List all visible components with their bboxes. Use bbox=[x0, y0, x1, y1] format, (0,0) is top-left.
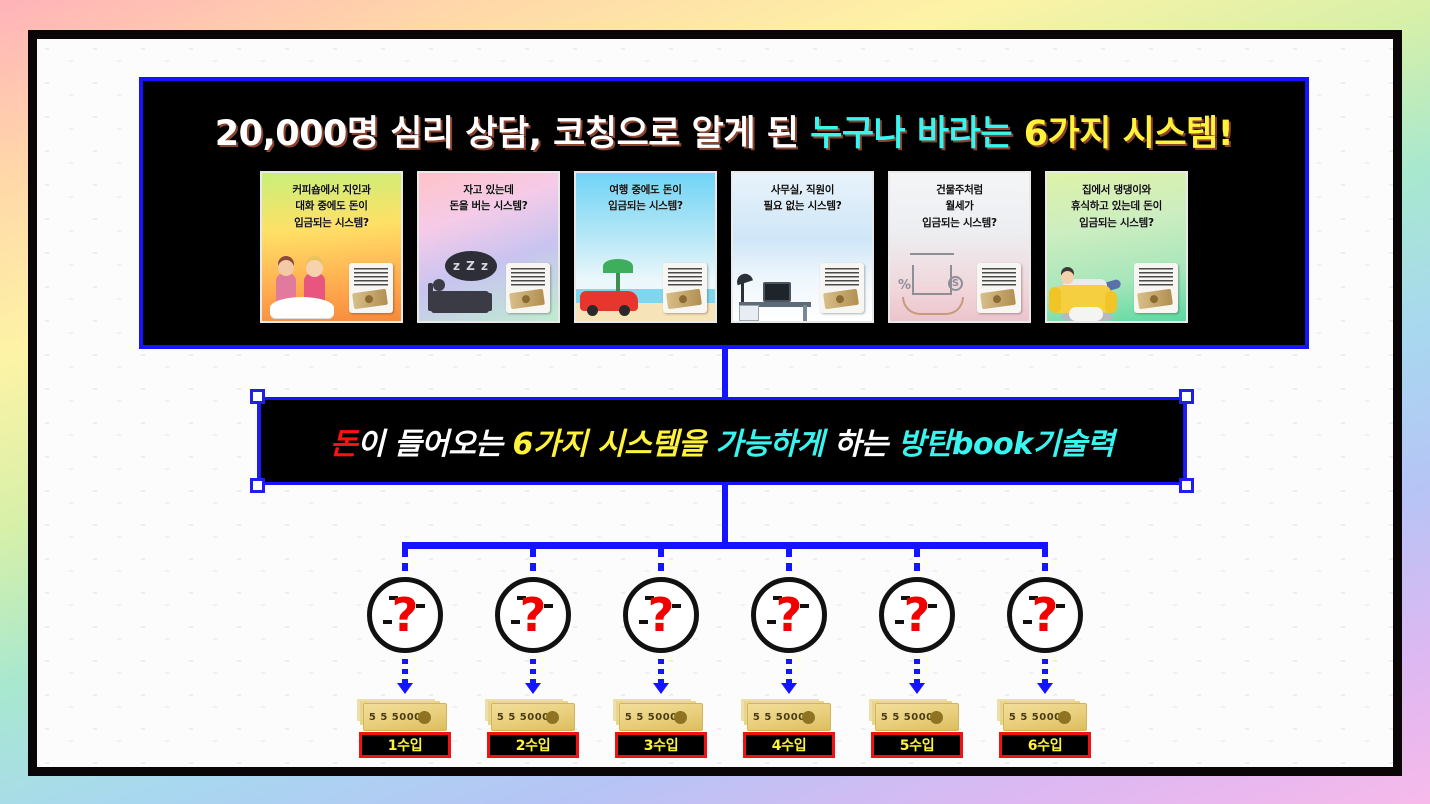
card-text: 자고 있는데 돈을 버는 시스템? bbox=[419, 173, 558, 215]
arrow-head-icon bbox=[397, 683, 413, 694]
card-line: 입금되는 시스템? bbox=[895, 215, 1024, 231]
card-landlord[interactable]: 건물주처럼 월세가 입금되는 시스템? %S bbox=[888, 171, 1031, 323]
cash-document-icon bbox=[820, 263, 864, 313]
card-line: 필요 없는 시스템? bbox=[738, 198, 867, 214]
slide-canvas: 20,000명 심리 상담, 코칭으로 알게 된 누구나 바라는 6가지 시스템… bbox=[37, 39, 1393, 767]
arrow-shaft bbox=[1042, 659, 1048, 685]
title-part-3: 6가지 시스템! bbox=[1024, 114, 1234, 154]
arrow-head-icon bbox=[909, 683, 925, 694]
mid-part-3: 6가지 시스템을 bbox=[512, 427, 715, 462]
card-line: 휴식하고 있는데 돈이 bbox=[1052, 198, 1181, 214]
question-mark-icon: ? bbox=[500, 592, 566, 638]
arrow-shaft bbox=[786, 659, 792, 685]
arrow-shaft bbox=[402, 659, 408, 685]
drop-line bbox=[786, 549, 792, 577]
income-item[interactable]: 5 5 50000 1수입 bbox=[357, 703, 453, 758]
banknote-icon: 5 5 50000 bbox=[875, 703, 959, 731]
card-line: 월세가 bbox=[895, 198, 1024, 214]
cash-document-icon bbox=[349, 263, 393, 313]
question-circle[interactable]: ? bbox=[495, 577, 571, 653]
banknote-icon: 5 5 50000 bbox=[619, 703, 703, 731]
sleeping-bed-zzz-icon: z Z z bbox=[419, 215, 558, 321]
banknote-icon: 5 5 50000 bbox=[363, 703, 447, 731]
question-circle[interactable]: ? bbox=[1007, 577, 1083, 653]
mid-part-5: 하는 bbox=[834, 427, 898, 462]
mid-part-2: 이 들어오는 bbox=[357, 427, 512, 462]
income-label: 1수입 bbox=[359, 732, 451, 758]
card-line: 입금되는 시스템? bbox=[1052, 215, 1181, 231]
banknote-icon: 5 5 50000 bbox=[747, 703, 831, 731]
income-label: 2수입 bbox=[487, 732, 579, 758]
resize-handle-bottom-right[interactable] bbox=[1179, 478, 1194, 493]
selection-edge-left bbox=[257, 397, 260, 485]
card-coffee-shop[interactable]: 커피숍에서 지인과 대화 중에도 돈이 입금되는 시스템? bbox=[260, 171, 403, 323]
drop-line bbox=[914, 549, 920, 577]
banknote-icon: 5 5 50000 bbox=[491, 703, 575, 731]
income-item[interactable]: 5 5 50000 3수입 bbox=[613, 703, 709, 758]
card-row: 커피숍에서 지인과 대화 중에도 돈이 입금되는 시스템? 자고 있는데 bbox=[143, 171, 1305, 323]
card-sleeping[interactable]: 자고 있는데 돈을 버는 시스템? z Z z bbox=[417, 171, 560, 323]
mid-part-6: 방탄book기술력 bbox=[898, 427, 1114, 462]
card-text: 사무실, 직원이 필요 없는 시스템? bbox=[733, 173, 872, 215]
card-no-office[interactable]: 사무실, 직원이 필요 없는 시스템? bbox=[731, 171, 874, 323]
resize-handle-top-right[interactable] bbox=[1179, 389, 1194, 404]
card-line: 커피숍에서 지인과 bbox=[267, 182, 396, 198]
selection-edge-right bbox=[1184, 397, 1187, 485]
person-sofa-dog-icon bbox=[1047, 231, 1186, 321]
header-panel[interactable]: 20,000명 심리 상담, 코칭으로 알게 된 누구나 바라는 6가지 시스템… bbox=[139, 77, 1309, 349]
connector-banner-to-tree bbox=[722, 485, 728, 542]
drop-line bbox=[402, 549, 408, 577]
card-travel[interactable]: 여행 중에도 돈이 입금되는 시스템? bbox=[574, 171, 717, 323]
resize-handle-bottom-left[interactable] bbox=[250, 478, 265, 493]
question-mark-icon: ? bbox=[756, 592, 822, 638]
card-line: 대화 중에도 돈이 bbox=[267, 198, 396, 214]
income-item[interactable]: 5 5 50000 6수입 bbox=[997, 703, 1093, 758]
income-label: 4수입 bbox=[743, 732, 835, 758]
house-in-hand-icon: %S bbox=[890, 231, 1029, 321]
arrow-shaft bbox=[658, 659, 664, 685]
income-label: 6수입 bbox=[999, 732, 1091, 758]
card-text: 건물주처럼 월세가 입금되는 시스템? bbox=[890, 173, 1029, 231]
card-line: 여행 중에도 돈이 bbox=[581, 182, 710, 198]
page-title: 20,000명 심리 상담, 코칭으로 알게 된 누구나 바라는 6가지 시스템… bbox=[143, 105, 1305, 156]
drop-line bbox=[1042, 549, 1048, 577]
arrow-head-icon bbox=[525, 683, 541, 694]
beach-red-car-icon bbox=[576, 215, 715, 321]
drop-line bbox=[530, 549, 536, 577]
cash-document-icon bbox=[506, 263, 550, 313]
card-line: 입금되는 시스템? bbox=[581, 198, 710, 214]
slide-outer-frame: 20,000명 심리 상담, 코칭으로 알게 된 누구나 바라는 6가지 시스템… bbox=[28, 30, 1402, 776]
question-circle[interactable]: ? bbox=[751, 577, 827, 653]
arrow-head-icon bbox=[1037, 683, 1053, 694]
cash-document-icon bbox=[977, 263, 1021, 313]
middle-banner[interactable]: 돈이 들어오는 6가지 시스템을 가능하게 하는 방탄book기술력 bbox=[258, 397, 1186, 485]
mid-part-1: 돈 bbox=[330, 427, 357, 462]
income-label: 5수입 bbox=[871, 732, 963, 758]
title-part-1: 20,000명 심리 상담, 코칭으로 알게 된 bbox=[215, 114, 810, 154]
card-line: 집에서 댕댕이와 bbox=[1052, 182, 1181, 198]
question-circle[interactable]: ? bbox=[623, 577, 699, 653]
income-item[interactable]: 5 5 50000 4수입 bbox=[741, 703, 837, 758]
question-mark-icon: ? bbox=[884, 592, 950, 638]
income-item[interactable]: 5 5 50000 2수입 bbox=[485, 703, 581, 758]
card-line: 돈을 버는 시스템? bbox=[424, 198, 553, 214]
card-text: 집에서 댕댕이와 휴식하고 있는데 돈이 입금되는 시스템? bbox=[1047, 173, 1186, 231]
card-line: 사무실, 직원이 bbox=[738, 182, 867, 198]
cash-document-icon bbox=[1134, 263, 1178, 313]
banknote-icon: 5 5 50000 bbox=[1003, 703, 1087, 731]
arrow-head-icon bbox=[781, 683, 797, 694]
desk-monitor-lamp-icon bbox=[733, 215, 872, 321]
card-home-dog[interactable]: 집에서 댕댕이와 휴식하고 있는데 돈이 입금되는 시스템? bbox=[1045, 171, 1188, 323]
card-text: 커피숍에서 지인과 대화 중에도 돈이 입금되는 시스템? bbox=[262, 173, 401, 231]
income-item[interactable]: 5 5 50000 5수입 bbox=[869, 703, 965, 758]
card-line: 건물주처럼 bbox=[895, 182, 1024, 198]
card-line: 입금되는 시스템? bbox=[267, 215, 396, 231]
arrow-shaft bbox=[914, 659, 920, 685]
middle-banner-selection[interactable]: 돈이 들어오는 6가지 시스템을 가능하게 하는 방탄book기술력 bbox=[258, 397, 1186, 485]
drop-line bbox=[658, 549, 664, 577]
question-mark-icon: ? bbox=[1012, 592, 1078, 638]
question-mark-icon: ? bbox=[372, 592, 438, 638]
arrow-shaft bbox=[530, 659, 536, 685]
question-mark-icon: ? bbox=[628, 592, 694, 638]
arrow-head-icon bbox=[653, 683, 669, 694]
card-line: 자고 있는데 bbox=[424, 182, 553, 198]
question-circle[interactable]: ? bbox=[367, 577, 443, 653]
middle-banner-title: 돈이 들어오는 6가지 시스템을 가능하게 하는 방탄book기술력 bbox=[330, 419, 1114, 463]
title-part-2: 누구나 바라는 bbox=[810, 114, 1024, 154]
mid-part-4: 가능하게 bbox=[715, 427, 833, 462]
tree-horizontal-bar bbox=[402, 542, 1048, 549]
cash-document-icon bbox=[663, 263, 707, 313]
card-text: 여행 중에도 돈이 입금되는 시스템? bbox=[576, 173, 715, 215]
connector-header-to-banner bbox=[722, 349, 728, 397]
question-circle[interactable]: ? bbox=[879, 577, 955, 653]
resize-handle-top-left[interactable] bbox=[250, 389, 265, 404]
two-women-cafe-icon bbox=[262, 231, 401, 321]
income-label: 3수입 bbox=[615, 732, 707, 758]
